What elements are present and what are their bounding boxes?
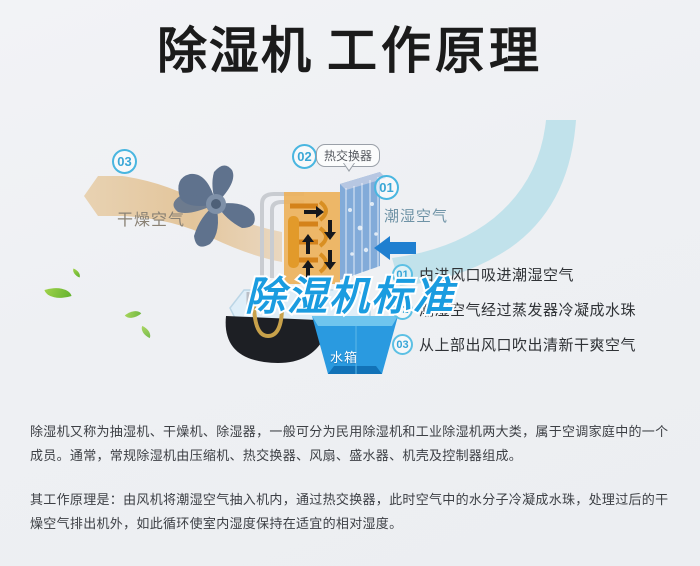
- label-dry-air: 干燥空气: [117, 206, 185, 230]
- leaf-icon: [139, 326, 153, 338]
- body-copy: 除湿机又称为抽湿机、干燥机、除湿器，一般可分为民用除湿机和工业除湿机两大类，属于…: [30, 420, 678, 536]
- legend-item: 03 从上部出风口吹出清新干爽空气: [392, 327, 692, 362]
- diagram-badge-03: 03: [112, 149, 137, 174]
- infographic-page: 除湿机工作原理: [0, 0, 700, 566]
- body-paragraph-1: 除湿机又称为抽湿机、干燥机、除湿器，一般可分为民用除湿机和工业除湿机两大类，属于…: [30, 420, 678, 468]
- watermark-text: 除湿机标准: [0, 264, 700, 322]
- label-water-tank: 水箱: [330, 347, 358, 366]
- label-humid-air: 潮湿空气: [384, 205, 448, 226]
- title-part-topic: 工作原理: [327, 22, 543, 80]
- diagram-badge-01: 01: [374, 175, 399, 200]
- title-part-product: 除湿机: [157, 22, 313, 80]
- diagram-badge-02: 02: [292, 144, 317, 169]
- legend-badge: 03: [392, 334, 413, 355]
- body-paragraph-2: 其工作原理是：由风机将潮湿空气抽入机内，通过热交换器，此时空气中的水分子冷凝成水…: [30, 488, 678, 536]
- legend-label: 从上部出风口吹出清新干爽空气: [419, 334, 636, 355]
- callout-tail-icon: [343, 163, 355, 172]
- page-title: 除湿机工作原理: [0, 22, 700, 80]
